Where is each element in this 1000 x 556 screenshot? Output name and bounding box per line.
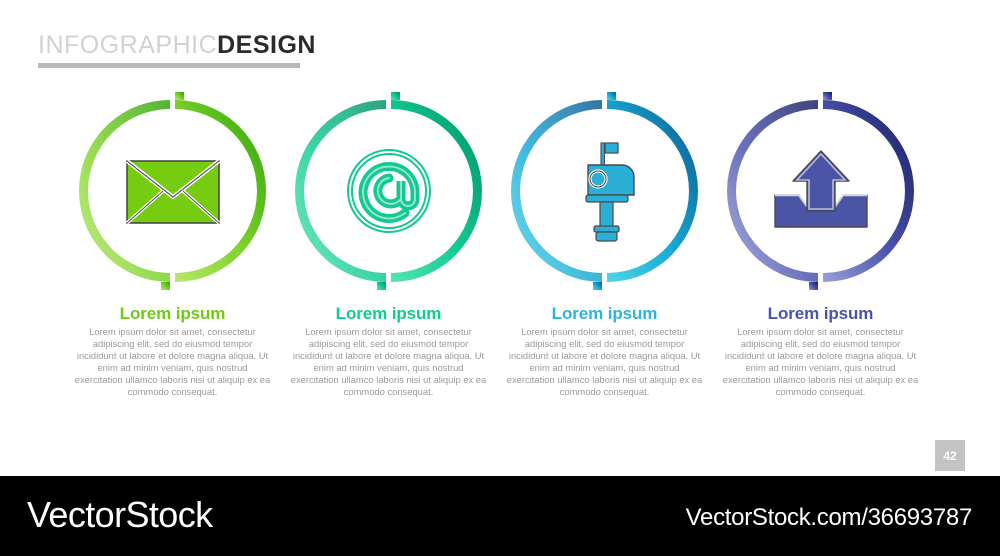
- ring-badge-2: [281, 92, 496, 290]
- vectorstock-logo: VectorStock: [27, 494, 213, 536]
- header-divider: [38, 63, 300, 68]
- icon-holder-1: [65, 92, 280, 290]
- column-body-1: Lorem ipsum dolor sit amet, consectetur …: [73, 326, 272, 399]
- column-title-2: Lorem ipsum: [281, 304, 496, 324]
- page-title-bold: DESIGN: [217, 31, 316, 59]
- column-title-4: Lorem ipsum: [713, 304, 928, 324]
- column-body-4: Lorem ipsum dolor sit amet, consectetur …: [721, 326, 920, 399]
- column-title-3: Lorem ipsum: [497, 304, 712, 324]
- icon-holder-2: [281, 92, 496, 290]
- watermark-footer: VectorStock VectorStock.com/36693787: [0, 476, 1000, 556]
- ring-badge-4: [713, 92, 928, 290]
- infographic-columns: Lorem ipsum Lorem ipsum dolor sit amet, …: [0, 92, 1000, 412]
- icon-holder-3: [497, 92, 712, 290]
- infographic-item-3[interactable]: Lorem ipsum Lorem ipsum dolor sit amet, …: [497, 92, 712, 412]
- column-title-1: Lorem ipsum: [65, 304, 280, 324]
- page-title-light: INFOGRAPHIC: [38, 31, 217, 59]
- outbox-upload-icon: [771, 149, 871, 233]
- page-title: INFOGRAPHICDESIGN: [38, 30, 338, 60]
- icon-holder-4: [713, 92, 928, 290]
- column-body-2: Lorem ipsum dolor sit amet, consectetur …: [289, 326, 488, 399]
- page-header: INFOGRAPHICDESIGN: [38, 30, 338, 72]
- infographic-item-2[interactable]: Lorem ipsum Lorem ipsum dolor sit amet, …: [281, 92, 496, 412]
- infographic-item-4[interactable]: Lorem ipsum Lorem ipsum dolor sit amet, …: [713, 92, 928, 412]
- at-sign-icon: [345, 147, 433, 235]
- vectorstock-url: VectorStock.com/36693787: [686, 504, 972, 532]
- column-body-3: Lorem ipsum dolor sit amet, consectetur …: [505, 326, 704, 399]
- ring-badge-3: [497, 92, 712, 290]
- envelope-icon: [125, 155, 221, 227]
- page-number-badge: 42: [935, 440, 965, 471]
- mailbox-icon: [568, 139, 642, 243]
- infographic-item-1[interactable]: Lorem ipsum Lorem ipsum dolor sit amet, …: [65, 92, 280, 412]
- page-number-label: 42: [943, 449, 956, 463]
- ring-badge-1: [65, 92, 280, 290]
